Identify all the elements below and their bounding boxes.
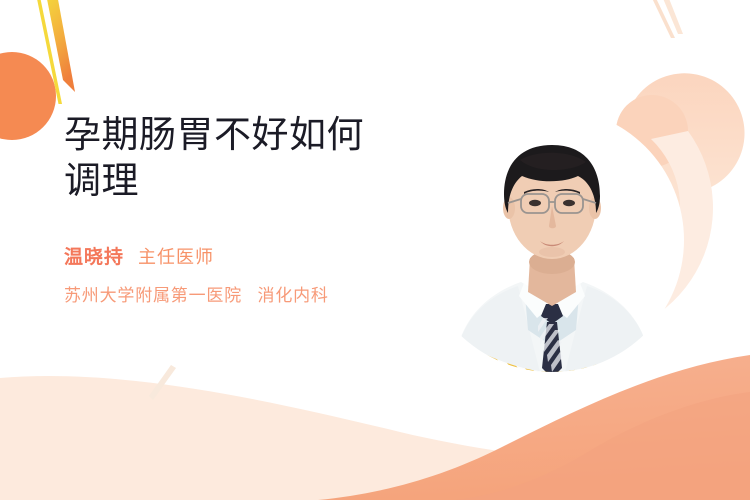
faint-stroke-top-right-b xyxy=(662,0,683,34)
orange-circle xyxy=(0,52,56,140)
doctor-credit-row: 温晓持 主任医师 xyxy=(64,242,464,269)
affiliation-department: 消化内科 xyxy=(258,286,329,305)
doctor-name: 温晓持 xyxy=(64,242,124,269)
text-block: 孕期肠胃不好如何 调理 温晓持 主任医师 苏州大学附属第一医院 消化内科 xyxy=(64,112,464,306)
affiliation-hospital: 苏州大学附属第一医院 xyxy=(64,286,242,305)
doctor-title: 主任医师 xyxy=(138,243,214,269)
doctor-affiliation-row: 苏州大学附属第一医院 消化内科 xyxy=(64,281,464,306)
page-title: 孕期肠胃不好如何 调理 xyxy=(64,112,464,204)
promo-card: 孕期肠胃不好如何 调理 温晓持 主任医师 苏州大学附属第一医院 消化内科 xyxy=(0,0,750,500)
